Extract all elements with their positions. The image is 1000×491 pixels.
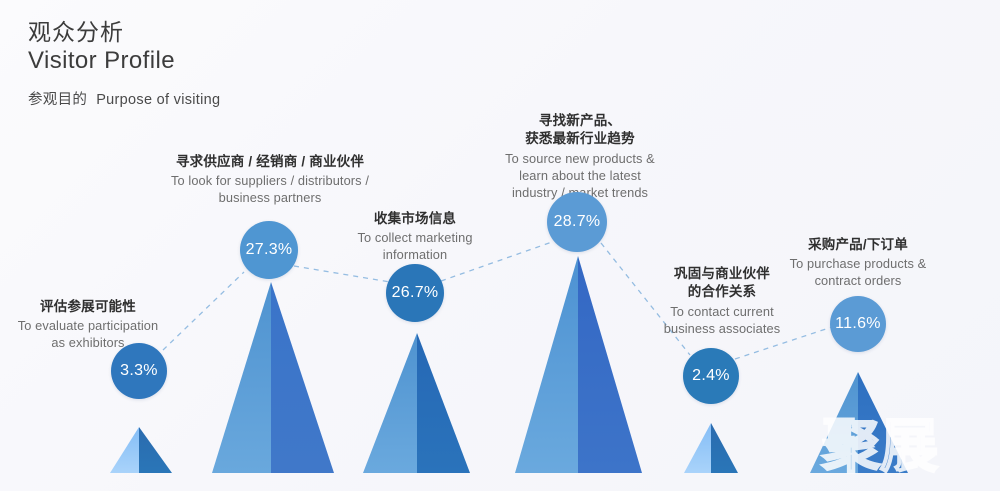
label-look-for-suppliers: 寻求供应商 / 经销商 / 商业伙伴 To look for suppliers…: [140, 153, 400, 206]
bubble-source-new-products[interactable]: 28.7%: [547, 192, 607, 252]
label-en-6: To purchase products & contract orders: [758, 255, 958, 289]
bubble-value-3: 26.7%: [392, 284, 439, 302]
label-cn-1: 评估参展可能性: [0, 298, 188, 316]
label-source-new-products: 寻找新产品、 获悉最新行业趋势 To source new products &…: [480, 112, 680, 201]
bubble-contact-business-associates[interactable]: 2.4%: [683, 348, 739, 404]
connector-2-3: [294, 266, 390, 282]
bubble-value-4: 28.7%: [554, 213, 601, 231]
bubble-value-2: 27.3%: [246, 241, 293, 259]
page-title-cn: 观众分析: [28, 18, 220, 46]
bubble-purchase-products[interactable]: 11.6%: [830, 296, 886, 352]
label-cn-4: 寻找新产品、 获悉最新行业趋势: [480, 112, 680, 149]
label-collect-marketing-information: 收集市场信息 To collect marketing information: [315, 210, 515, 263]
label-cn-2: 寻求供应商 / 经销商 / 商业伙伴: [140, 153, 400, 171]
label-purchase-products: 采购产品/下订单 To purchase products & contract…: [758, 236, 958, 289]
header-block: 观众分析 Visitor Profile 参观目的Purpose of visi…: [28, 18, 220, 109]
label-cn-3: 收集市场信息: [315, 210, 515, 228]
label-en-2: To look for suppliers / distributors / b…: [140, 172, 400, 206]
subtitle-cn: 参观目的: [28, 92, 87, 108]
label-evaluate-participation: 评估参展可能性 To evaluate participation as exh…: [0, 298, 188, 351]
page-title-en: Visitor Profile: [28, 46, 220, 75]
subtitle-en: Purpose of visiting: [96, 92, 220, 108]
label-en-5: To contact current business associates: [627, 303, 817, 337]
label-en-3: To collect marketing information: [315, 229, 515, 263]
bubble-collect-marketing-information[interactable]: 26.7%: [386, 264, 444, 322]
subtitle: 参观目的Purpose of visiting: [28, 88, 220, 109]
bubble-value-1: 3.3%: [120, 362, 158, 380]
bubble-value-5: 2.4%: [692, 367, 730, 385]
label-en-1: To evaluate participation as exhibitors: [0, 317, 188, 351]
label-cn-6: 采购产品/下订单: [758, 236, 958, 254]
bubble-look-for-suppliers[interactable]: 27.3%: [240, 221, 298, 279]
bubble-evaluate-participation[interactable]: 3.3%: [111, 343, 167, 399]
bubble-value-6: 11.6%: [835, 315, 881, 333]
infographic-canvas: 观众分析 Visitor Profile 参观目的Purpose of visi…: [0, 0, 1000, 491]
